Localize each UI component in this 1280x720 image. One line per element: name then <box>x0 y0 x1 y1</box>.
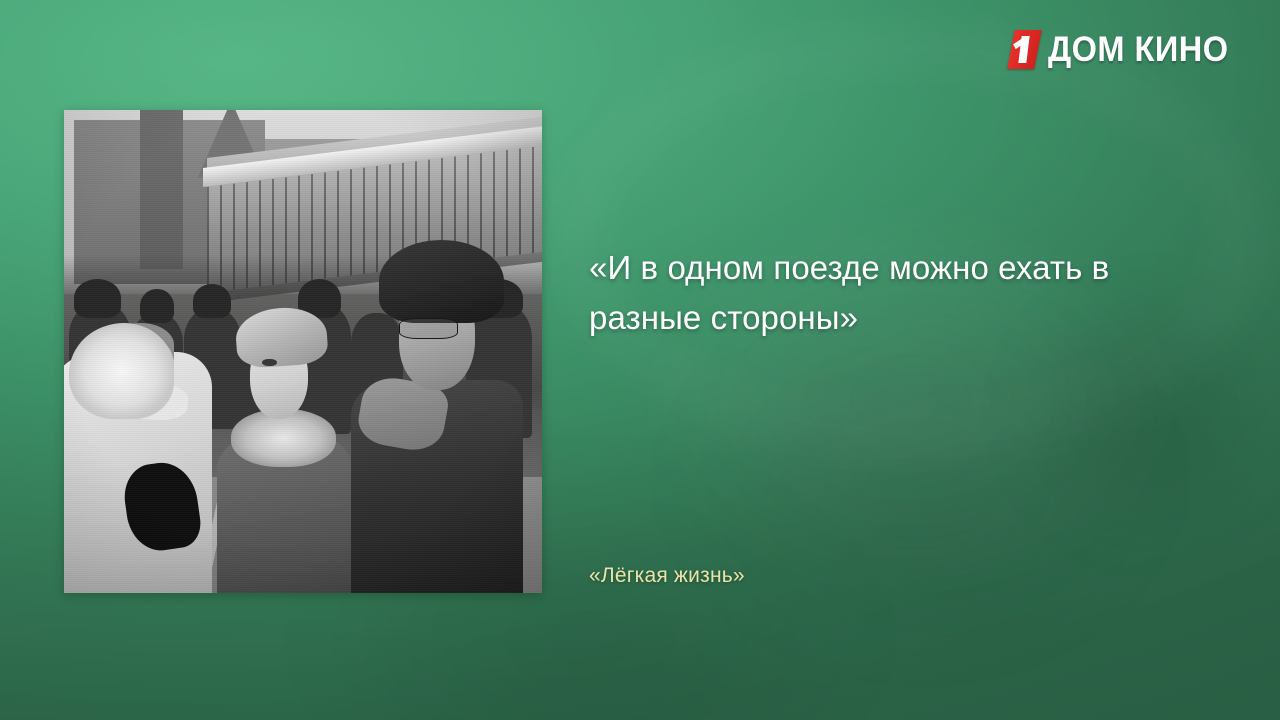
quote-text: «И в одном поезде можно ехать в разные с… <box>589 243 1209 343</box>
film-title-caption: «Лёгкая жизнь» <box>589 562 745 590</box>
film-still-photo <box>64 110 542 593</box>
film-vignette <box>64 110 542 593</box>
broadcast-lower-third-slate: ДОМ КИНО «И в одном поезде можно ехать в… <box>0 0 1280 720</box>
channel-logo-text: ДОМ КИНО <box>1048 32 1228 67</box>
film-still-scene <box>64 110 542 593</box>
channel-logo: ДОМ КИНО <box>1011 30 1242 69</box>
channel-one-red-mark-icon <box>1007 30 1042 69</box>
